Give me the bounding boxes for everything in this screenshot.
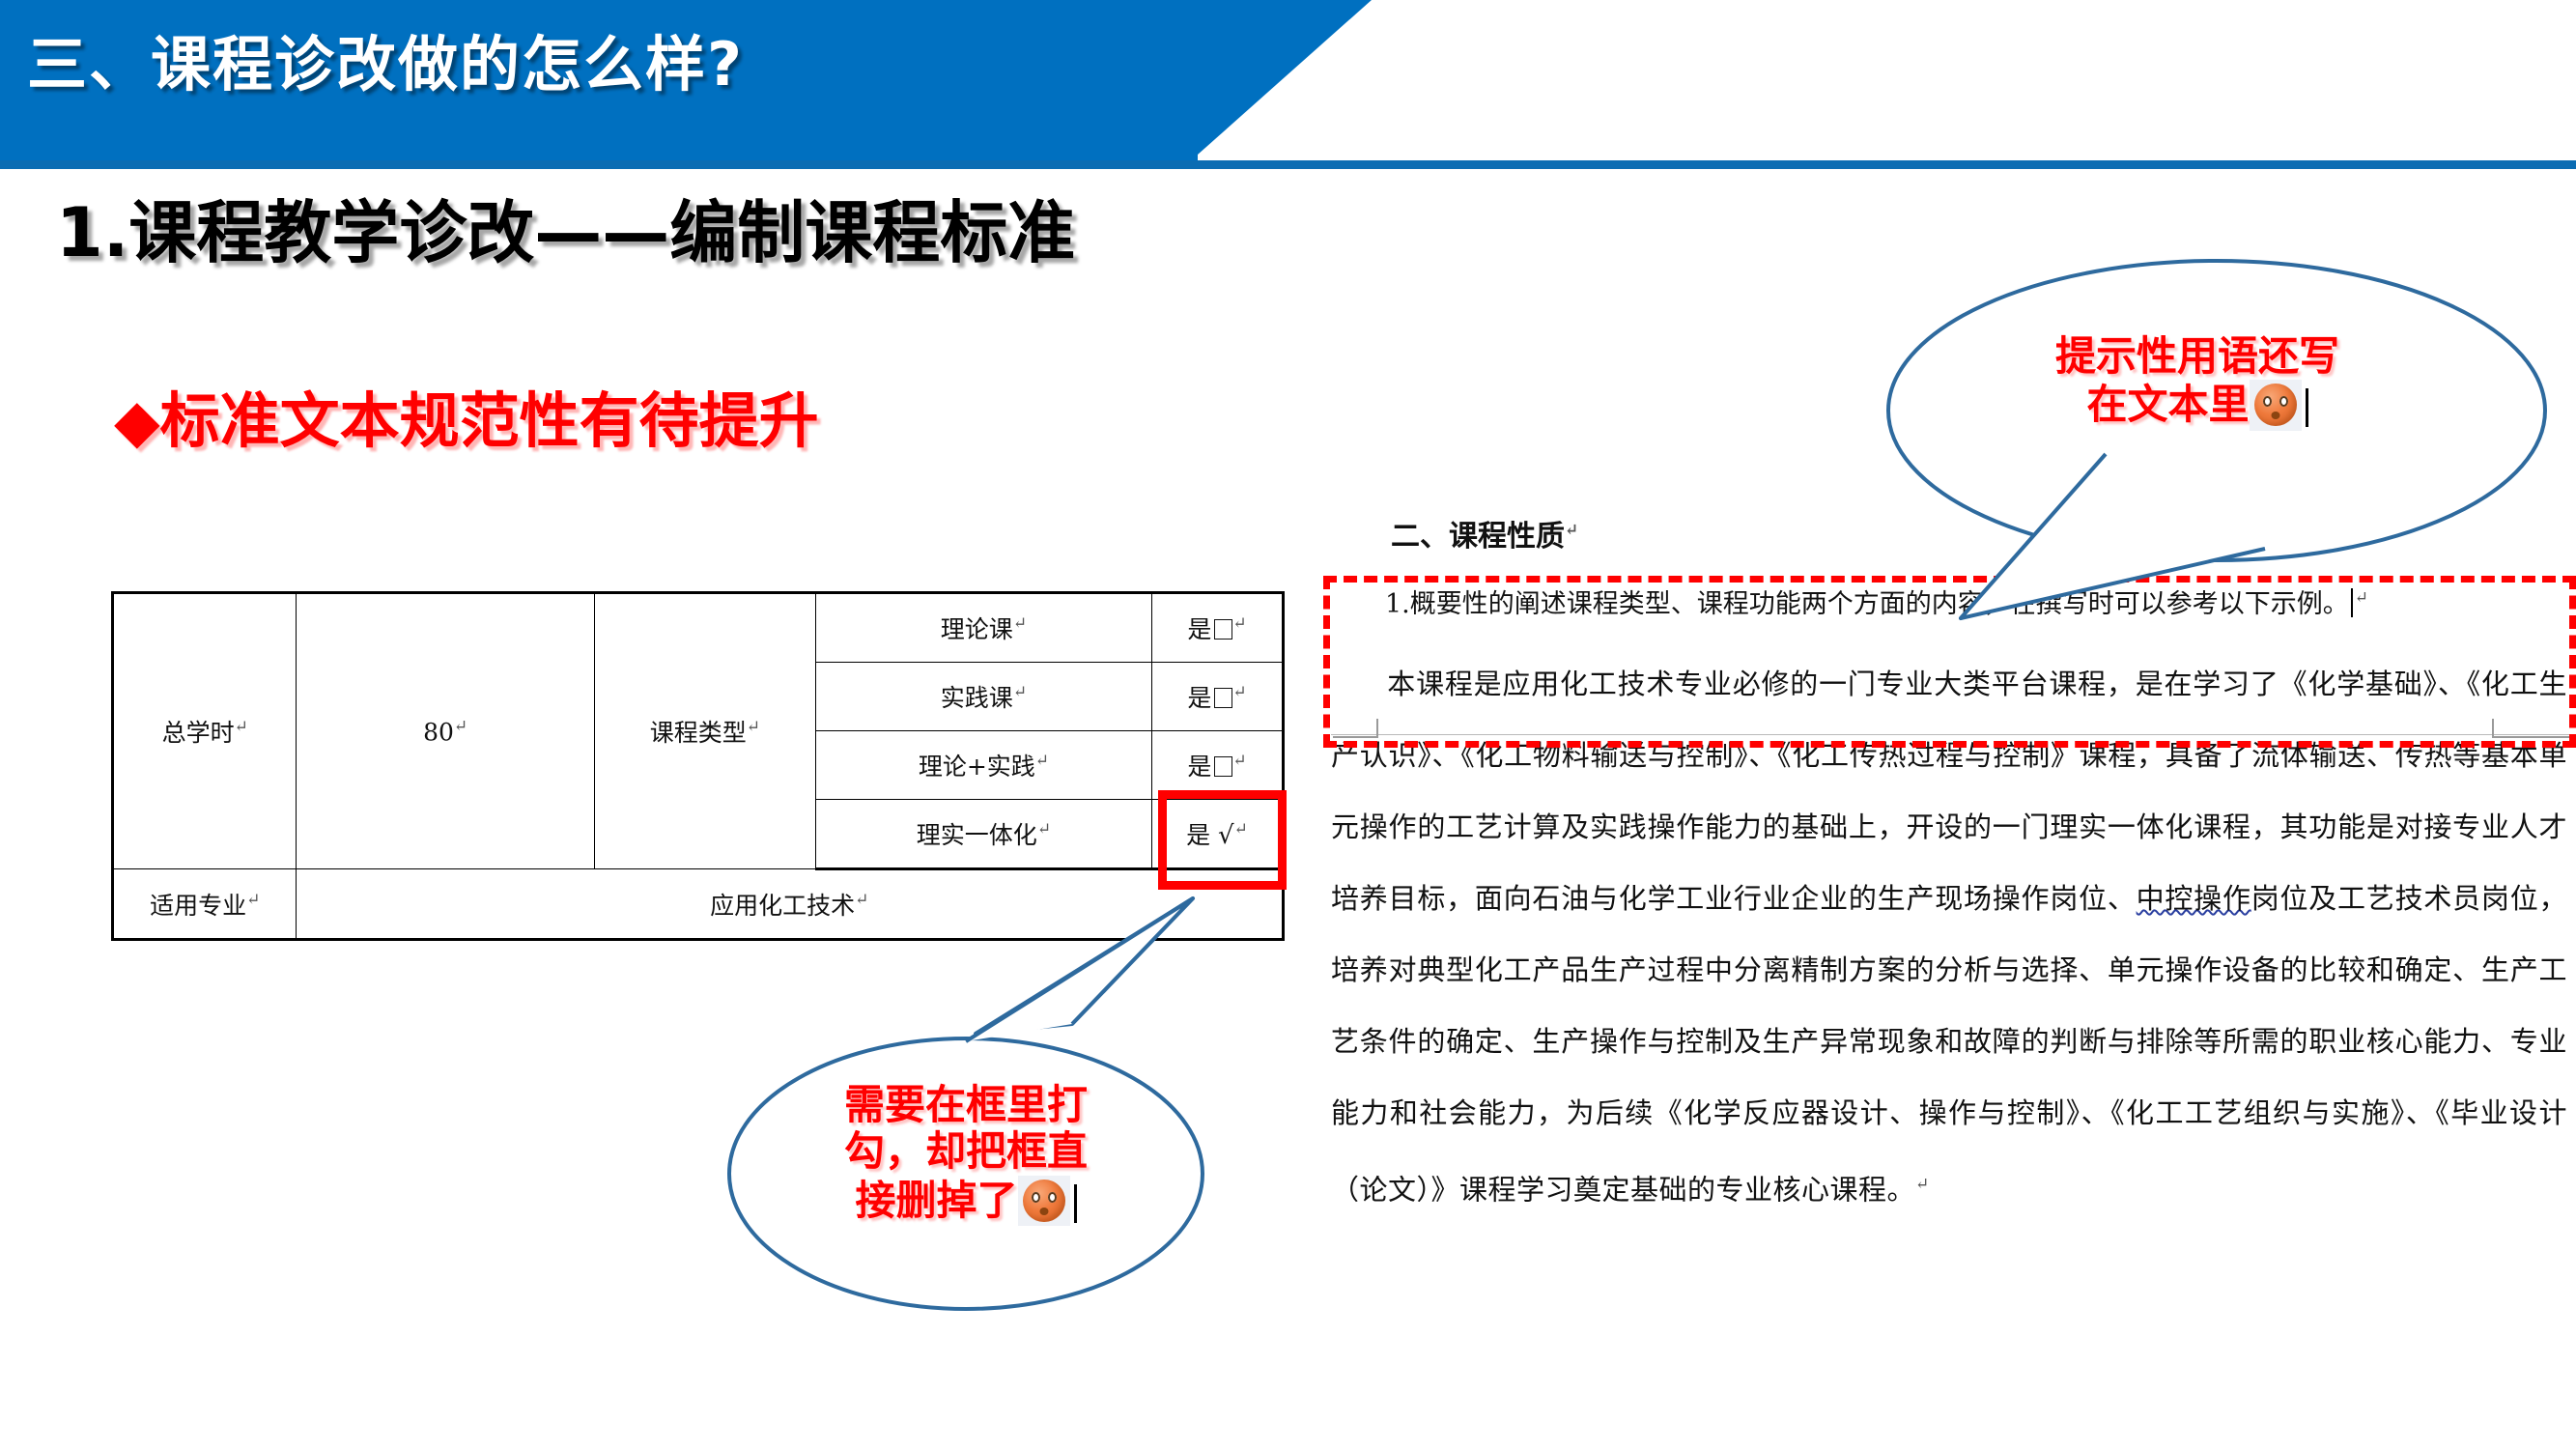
document-heading: 二、课程性质↵ <box>1391 512 2567 554</box>
table-row: 适用专业↵ 应用化工技术↵ <box>113 869 1284 940</box>
bubble-checkbox-line-2: 勾，却把框直 <box>782 1128 1149 1175</box>
red-subtitle: ◆标准文本规范性有待提升 <box>114 372 819 459</box>
cell-option-answer-3: 是 √↵ <box>1151 800 1283 869</box>
text-caret <box>2306 388 2308 427</box>
word-document-screenshot: 二、课程性质↵ 1.概要性的阐述课程类型、课程功能两个方面的内容，在撰写时可以参… <box>1331 512 2567 1226</box>
bubble-checkbox-line-1: 需要在框里打 <box>782 1082 1149 1128</box>
bubble-hint-line-1: 提示性用语还写 <box>1985 333 2410 380</box>
banner-title: 三、课程诊改做的怎么样? <box>27 15 744 102</box>
cell-option-answer-2: 是↵ <box>1151 731 1283 800</box>
course-info-table: 总学时↵ 80↵ 课程类型↵ 理论课↵ 是↵ 实践课↵ 是↵ <box>111 591 1285 941</box>
check-mark-icon: √ <box>1218 821 1234 850</box>
bubble-hint-text: 提示性用语还写 在文本里 <box>1985 333 2410 431</box>
cell-course-type-label: 课程类型↵ <box>594 593 815 869</box>
document-corner-marker-right <box>2492 719 2571 738</box>
page-title: 1.课程教学诊改——编制课程标准 <box>56 179 1075 276</box>
bubble-checkbox-text: 需要在框里打 勾，却把框直 接删掉了 <box>782 1082 1149 1226</box>
cell-option-answer-1: 是↵ <box>1151 663 1283 731</box>
cell-option-name-0: 理论课↵ <box>815 593 1151 663</box>
header-banner: 三、课程诊改做的怎么样? <box>0 0 1372 155</box>
bubble-checkbox-line-3-row: 接删掉了 <box>782 1176 1149 1226</box>
checkbox-icon[interactable] <box>1214 756 1232 777</box>
cell-option-name-3: 理实一体化↵ <box>815 800 1151 869</box>
document-ruler-line <box>1331 734 2569 735</box>
cell-major-label: 适用专业↵ <box>113 869 297 940</box>
checkbox-icon[interactable] <box>1214 688 1232 708</box>
bubble-hint-line-2: 在文本里 <box>2086 381 2249 428</box>
header-divider-line <box>0 160 2576 169</box>
text-caret <box>2351 588 2353 617</box>
cell-option-name-1: 实践课↵ <box>815 663 1151 731</box>
surprised-face-emoji <box>1018 1176 1070 1226</box>
cell-total-hours-label: 总学时↵ <box>113 593 297 869</box>
table-row: 总学时↵ 80↵ 课程类型↵ 理论课↵ 是↵ <box>113 593 1284 663</box>
bubble-hint-line-2-row: 在文本里 <box>1985 380 2410 430</box>
surprised-face-emoji <box>2250 380 2302 430</box>
cell-option-answer-0: 是↵ <box>1151 593 1283 663</box>
text-caret <box>1074 1184 1077 1223</box>
document-hint-paragraph: 1.概要性的阐述课程类型、课程功能两个方面的内容，在撰写时可以参考以下示例。↵ <box>1331 562 2567 639</box>
spellcheck-word: 中控操作 <box>2137 882 2251 915</box>
document-corner-marker-left <box>1333 719 1378 738</box>
cell-option-name-2: 理论+实践↵ <box>815 731 1151 800</box>
cell-total-hours-value: 80↵ <box>297 593 594 869</box>
slide-canvas: 三、课程诊改做的怎么样? 1.课程教学诊改——编制课程标准 ◆标准文本规范性有待… <box>0 0 2576 1450</box>
bubble-checkbox-line-3: 接删掉了 <box>855 1177 1017 1224</box>
checkbox-icon[interactable] <box>1214 619 1232 640</box>
cell-major-value: 应用化工技术↵ <box>297 869 1284 940</box>
